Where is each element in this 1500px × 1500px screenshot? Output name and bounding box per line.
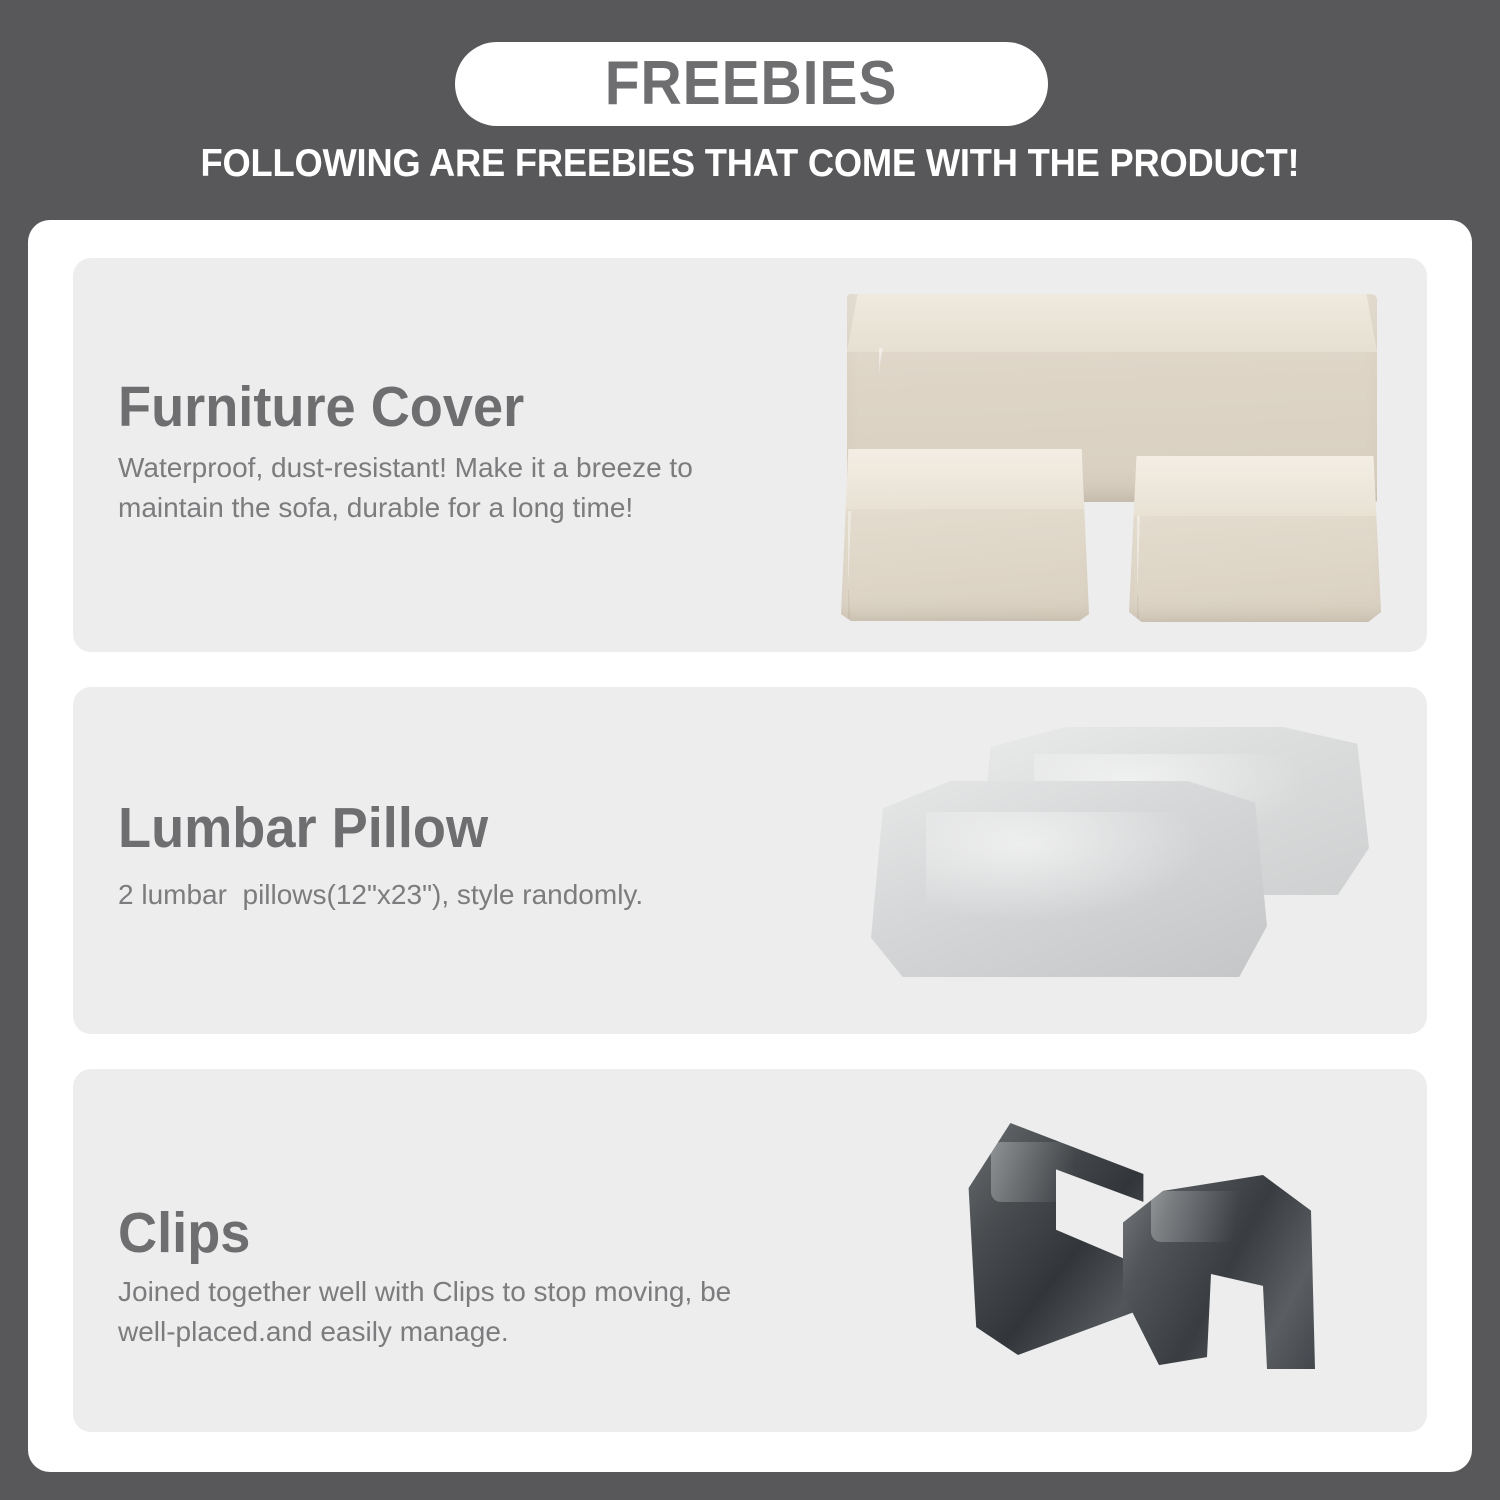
lumbar-pillow-photo [813,687,1427,1034]
ottoman-cover-left-shape [841,449,1089,621]
clip-left-highlight [991,1142,1097,1202]
pillow-front-shape [871,781,1267,977]
card-title: Clips [118,1204,707,1262]
ottoman-cover-right-shape [1129,456,1381,622]
card-description: 2 lumbar pillows(12"x23"), style randoml… [118,875,758,915]
clip-left-shape [961,1123,1151,1355]
ottoman-left-fabric-folds [848,511,1081,618]
freebie-card-furniture-cover: Furniture Cover Waterproof, dust-resista… [73,258,1427,652]
card-description: Joined together well with Clips to stop … [118,1272,738,1352]
card-title: Lumbar Pillow [118,799,726,857]
freebies-title-badge: FREEBIES [455,42,1048,126]
card-text-block: Furniture Cover Waterproof, dust-resista… [118,378,718,528]
content-panel: Furniture Cover Waterproof, dust-resista… [28,220,1472,1472]
clips-illustration [961,1123,1341,1373]
card-description: Waterproof, dust-resistant! Make it a br… [118,448,718,528]
page-subtitle: FOLLOWING ARE FREEBIES THAT COME WITH TH… [53,142,1448,186]
page-title: FREEBIES [605,53,898,115]
sofa-cover-top-face [847,294,1377,352]
card-text-block: Lumbar Pillow 2 lumbar pillows(12"x23"),… [118,799,758,915]
clips-photo [873,1069,1427,1432]
furniture-cover-illustration [833,286,1393,616]
ottoman-left-top-face [841,449,1089,509]
page-header: FREEBIES FOLLOWING ARE FREEBIES THAT COM… [0,0,1500,220]
card-title: Furniture Cover [118,378,688,436]
furniture-cover-photo [783,258,1427,652]
ottoman-right-fabric-folds [1137,516,1374,619]
ottoman-right-top-face [1129,456,1381,516]
pillow-front-highlight [926,812,1203,922]
freebie-card-lumbar-pillow: Lumbar Pillow 2 lumbar pillows(12"x23"),… [73,687,1427,1034]
lumbar-pillow-illustration [871,723,1371,995]
clip-right-highlight [1151,1191,1263,1242]
clip-right-shape [1119,1175,1319,1373]
card-text-block: Clips Joined together well with Clips to… [118,1204,738,1352]
freebie-card-clips: Clips Joined together well with Clips to… [73,1069,1427,1432]
